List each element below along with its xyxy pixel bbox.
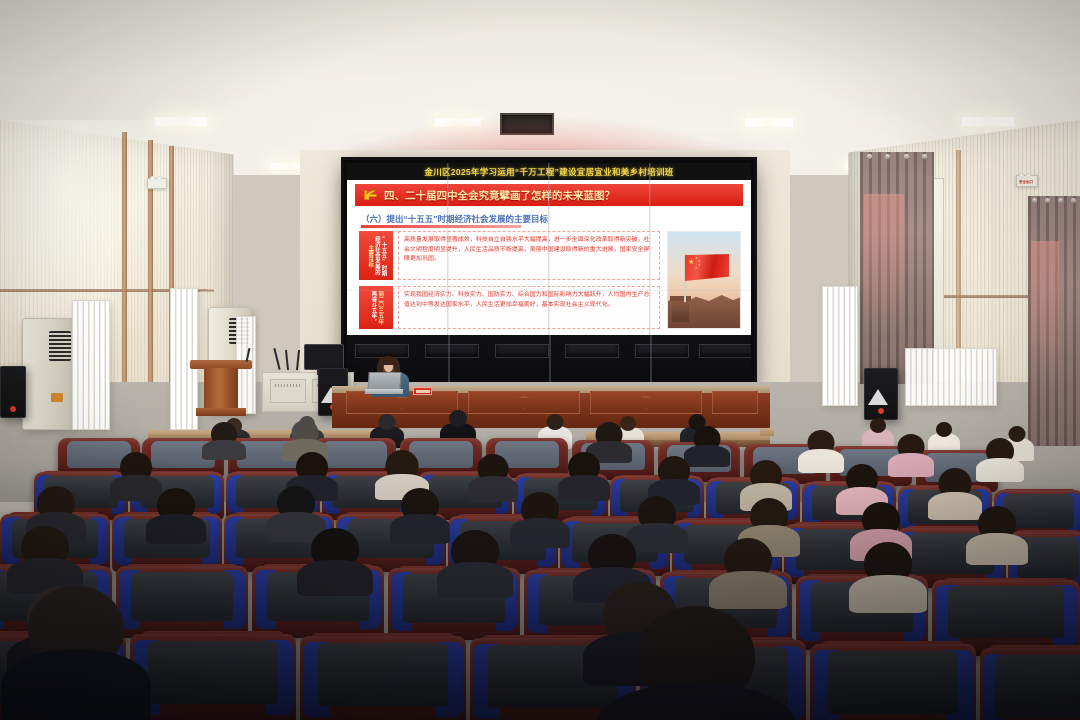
audience-person-r1-f bbox=[890, 434, 932, 472]
photo-watchtower bbox=[672, 300, 689, 322]
led-lower-seam-3 bbox=[650, 335, 652, 389]
slide-body: 主要目标 经济社会发展的 “十五五”时期 高质量发展取得显著成效，科技自立自强水… bbox=[359, 231, 741, 329]
exit-sign-left bbox=[147, 178, 167, 189]
person-shoulders bbox=[976, 458, 1024, 482]
audience-person-r4-f bbox=[852, 542, 924, 612]
slide-text-column: 主要目标 经济社会发展的 “十五五”时期 高质量发展取得显著成效，科技自立自强水… bbox=[359, 231, 660, 329]
slide-heading-bar: 四、二十届四中全会究竟擘画了怎样的未来蓝图？ bbox=[355, 184, 743, 206]
exit-sign-left-bulbs bbox=[150, 176, 162, 181]
table-person-5-head bbox=[547, 414, 564, 430]
slide-block-2-label-line-2: 到二〇三五年 bbox=[377, 291, 383, 325]
seat-r5-6[interactable] bbox=[810, 644, 976, 720]
table-person-3-head bbox=[379, 414, 396, 430]
conference-hall-photo: 金川区2025年学习运用“千万工程”建设宜居宜业和美乡村培训班 四、二十届四中全… bbox=[0, 0, 1080, 720]
person-shoulders bbox=[297, 560, 373, 596]
table-person-8-head bbox=[870, 418, 886, 433]
person-shoulders bbox=[202, 440, 246, 460]
person-shoulders bbox=[1, 650, 151, 720]
slide-block-1-label: 主要目标 经济社会发展的 “十五五”时期 bbox=[359, 231, 393, 280]
control-desk-mic-3 bbox=[296, 350, 300, 370]
ceiling-light-4 bbox=[962, 117, 1014, 126]
led-lower-seam-1 bbox=[448, 335, 450, 389]
audience-person-r1-a bbox=[204, 422, 244, 456]
person-shoulders bbox=[437, 562, 513, 598]
curtain-b-rings bbox=[1028, 197, 1080, 203]
party-emblem-icon bbox=[363, 189, 378, 201]
person-shoulders bbox=[468, 476, 518, 502]
flag-star-3: ★ bbox=[698, 264, 701, 267]
seat-r5-2[interactable] bbox=[130, 634, 296, 720]
exit-sign-bulbs bbox=[1019, 173, 1031, 178]
audience-person-r4-c bbox=[440, 530, 510, 596]
curtain-a-sun bbox=[864, 194, 905, 338]
slide-block-1-text: 高质量发展取得显著成效，科技自立自强水平大幅提高，进一步全面深化改革取得新突破，… bbox=[398, 231, 660, 280]
flag-star-large: ★ bbox=[688, 259, 694, 266]
table-person-4-head bbox=[449, 410, 467, 427]
control-desk-mic-2 bbox=[285, 350, 289, 370]
slide-block-1: 主要目标 经济社会发展的 “十五五”时期 高质量发展取得显著成效，科技自立自强水… bbox=[359, 231, 660, 280]
audience-person-r2-d bbox=[470, 454, 516, 498]
person-shoulders bbox=[888, 453, 934, 477]
slide-block-2-text: 实现我国经济实力、科技实力、国防实力、综合国力和国际影响力大幅跃升，人均国内生产… bbox=[398, 286, 660, 329]
desk-monitor[interactable] bbox=[304, 344, 344, 370]
person-shoulders bbox=[596, 684, 796, 720]
audience-seating-area bbox=[0, 400, 1080, 720]
open-laptop-keyboard[interactable] bbox=[365, 389, 404, 394]
radiator-right-low bbox=[905, 348, 997, 406]
audience-person-r3-i bbox=[968, 506, 1026, 564]
led-lower-cell-4 bbox=[565, 344, 619, 358]
desk-nameplate bbox=[413, 387, 432, 395]
led-lower-cell-2 bbox=[425, 344, 479, 358]
audience-person-r4-a bbox=[10, 526, 80, 590]
radiator-right bbox=[822, 286, 858, 406]
slide-subheading: （六）提出“十五五”时期经济社会发展的主要目标 bbox=[361, 213, 548, 225]
person-shoulders bbox=[709, 571, 787, 609]
audience-person-r1-e bbox=[800, 430, 842, 468]
led-lower-cell-6 bbox=[699, 344, 751, 358]
curtain-a-rings bbox=[860, 153, 934, 159]
audience-person-r4-b bbox=[300, 528, 370, 594]
presentation-slide: 金川区2025年学习运用“千万工程”建设宜居宜业和美乡村培训班 四、二十届四中全… bbox=[347, 163, 751, 335]
seated-presenter bbox=[367, 356, 413, 396]
audience-person-r1-b bbox=[284, 420, 326, 456]
audience-person-foreground-left bbox=[12, 586, 140, 720]
slide-heading: 四、二十届四中全会究竟擘画了怎样的未来蓝图？ bbox=[384, 188, 615, 203]
seat-r5-7[interactable] bbox=[980, 648, 1080, 720]
curtain-b-sun bbox=[1031, 241, 1060, 396]
person-shoulders bbox=[510, 518, 570, 548]
person-shoulders bbox=[146, 514, 206, 544]
audience-person-r1-g bbox=[978, 438, 1022, 478]
slide-block-1-label-line-1: “十五五”时期 bbox=[380, 236, 386, 276]
led-lower-seam-2 bbox=[549, 335, 551, 389]
control-desk-mic-1 bbox=[273, 348, 280, 370]
china-flag-great-wall-photo: ★ ★ ★ ★ ★ bbox=[667, 231, 741, 329]
audience-person-foreground-center bbox=[616, 606, 776, 720]
slide-banner-bar: 金川区2025年学习运用“千万工程”建设宜居宜业和美乡村培训班 bbox=[347, 163, 751, 180]
slide-block-2-label-line-1: 再奋斗五年， bbox=[370, 291, 376, 325]
slide-subheading-underline bbox=[361, 225, 521, 228]
audience-person-r3-e bbox=[512, 492, 568, 546]
flag-star-4: ★ bbox=[695, 267, 698, 270]
slide-block-1-label-line-2: 经济社会发展的 bbox=[373, 236, 379, 275]
audience-person-r4-e bbox=[712, 538, 784, 608]
person-shoulders bbox=[849, 575, 927, 613]
audience-person-r3-b bbox=[148, 488, 204, 540]
slide-block-2-label: 再奋斗五年， 到二〇三五年 bbox=[359, 286, 393, 329]
seat-r5-3[interactable] bbox=[300, 636, 466, 720]
exit-sign-label: 安全出口 bbox=[1019, 180, 1033, 185]
table-person-9-head bbox=[936, 422, 952, 437]
led-lower-cell-3 bbox=[495, 344, 549, 358]
person-shoulders bbox=[966, 533, 1028, 565]
led-lower-cell-5 bbox=[635, 344, 689, 358]
slide-block-2: 再奋斗五年， 到二〇三五年 实现我国经济实力、科技实力、国防实力、综合国力和国际… bbox=[359, 286, 660, 329]
slide-banner-title: 金川区2025年学习运用“千万工程”建设宜居宜业和美乡村培训班 bbox=[424, 166, 673, 178]
ac-left-grill bbox=[49, 331, 71, 361]
exit-sign: 安全出口 bbox=[1016, 175, 1038, 187]
slide-block-1-label-line-3: 主要目标 bbox=[366, 245, 372, 267]
